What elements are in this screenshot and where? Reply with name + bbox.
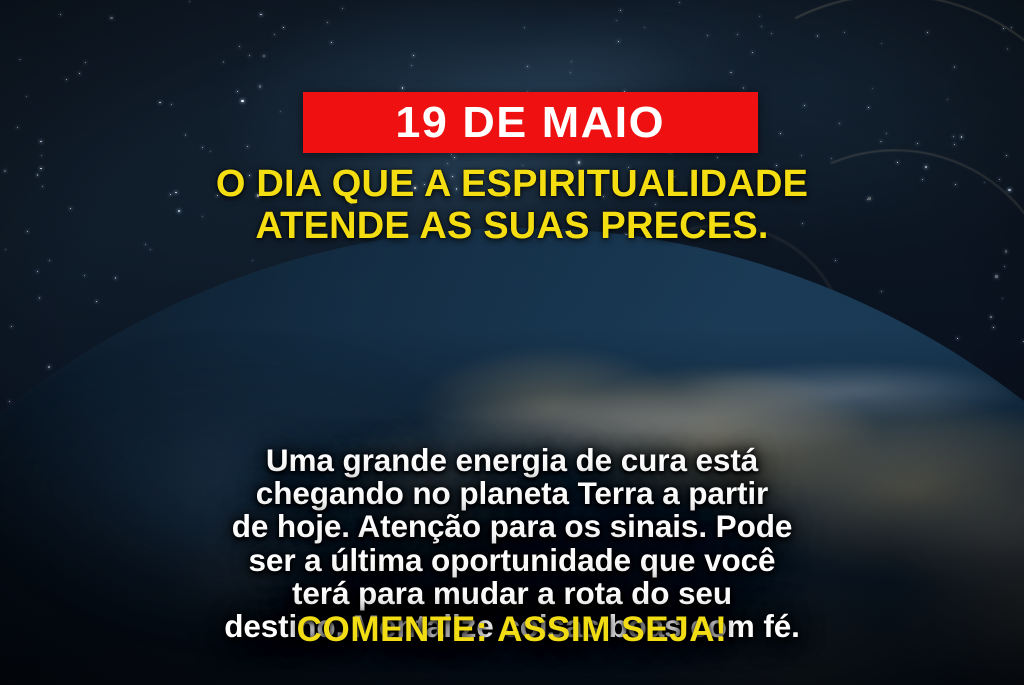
body-line-2: chegando no planeta Terra a partir (52, 477, 972, 510)
poster-content: 19 DE MAIO O DIA QUE A ESPIRITUALIDADE A… (0, 0, 1024, 685)
date-banner-label: 19 DE MAIO (396, 101, 666, 145)
call-to-action: COMENTE: ASSIM SEJA! (297, 612, 728, 647)
body-line-5: terá para mudar a rota do seu (52, 577, 972, 610)
headline-line-2: ATENDE AS SUAS PRECES. (42, 206, 982, 248)
date-banner: 19 DE MAIO (303, 92, 758, 153)
body-line-1: Uma grande energia de cura está (52, 444, 972, 477)
poster-canvas: 19 DE MAIO O DIA QUE A ESPIRITUALIDADE A… (0, 0, 1024, 685)
body-line-4: ser a última oportunidade que você (52, 544, 972, 577)
headline-line-1: O DIA QUE A ESPIRITUALIDADE (42, 164, 982, 206)
body-line-3: de hoje. Atenção para os sinais. Pode (52, 510, 972, 543)
headline: O DIA QUE A ESPIRITUALIDADE ATENDE AS SU… (42, 164, 982, 248)
call-to-action-label: COMENTE: ASSIM SEJA! (297, 610, 728, 649)
